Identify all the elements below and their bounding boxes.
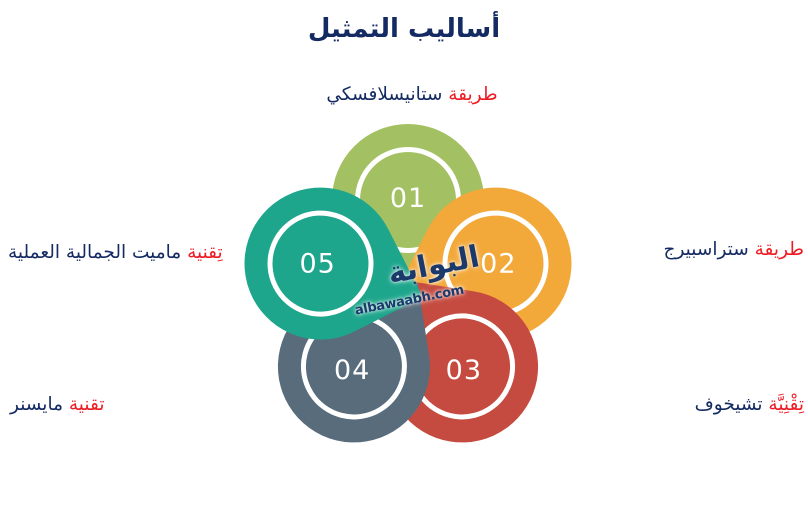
label-pin-02-rest: ستراسبيرج [664,239,749,260]
label-pin-04-rest: مايسنر [10,394,63,415]
label-pin-03-highlight: تِقْنِيَّة [768,394,804,415]
label-pin-05-rest: ماميت الجمالية [66,242,181,263]
label-pin-05: تِقنية ماميت الجمالية العملية [8,240,236,266]
pin-02-number: 02 [438,249,558,280]
label-pin-05-line2: العملية [8,242,60,263]
label-pin-03-rest: تشيخوف [695,394,763,415]
label-pin-01-rest: ستانيسلافسكي [326,84,442,105]
pin-05-number: 05 [258,249,378,280]
label-pin-04: تقنية مايسنر [10,392,262,418]
label-pin-01: طريقة ستانيسلافسكي [292,82,532,108]
page-title: أساليب التمثيل [0,14,808,44]
label-pin-02: طريقة ستراسبيرج [604,237,804,263]
label-pin-03: تِقْنِيَّة تشيخوف [560,392,804,418]
label-pin-02-highlight: طريقة [755,239,804,260]
label-pin-05-highlight: تِقنية [187,242,223,263]
pin-04-number: 04 [292,355,412,386]
label-pin-04-highlight: تقنية [69,394,105,415]
label-pin-01-highlight: طريقة [448,84,497,105]
